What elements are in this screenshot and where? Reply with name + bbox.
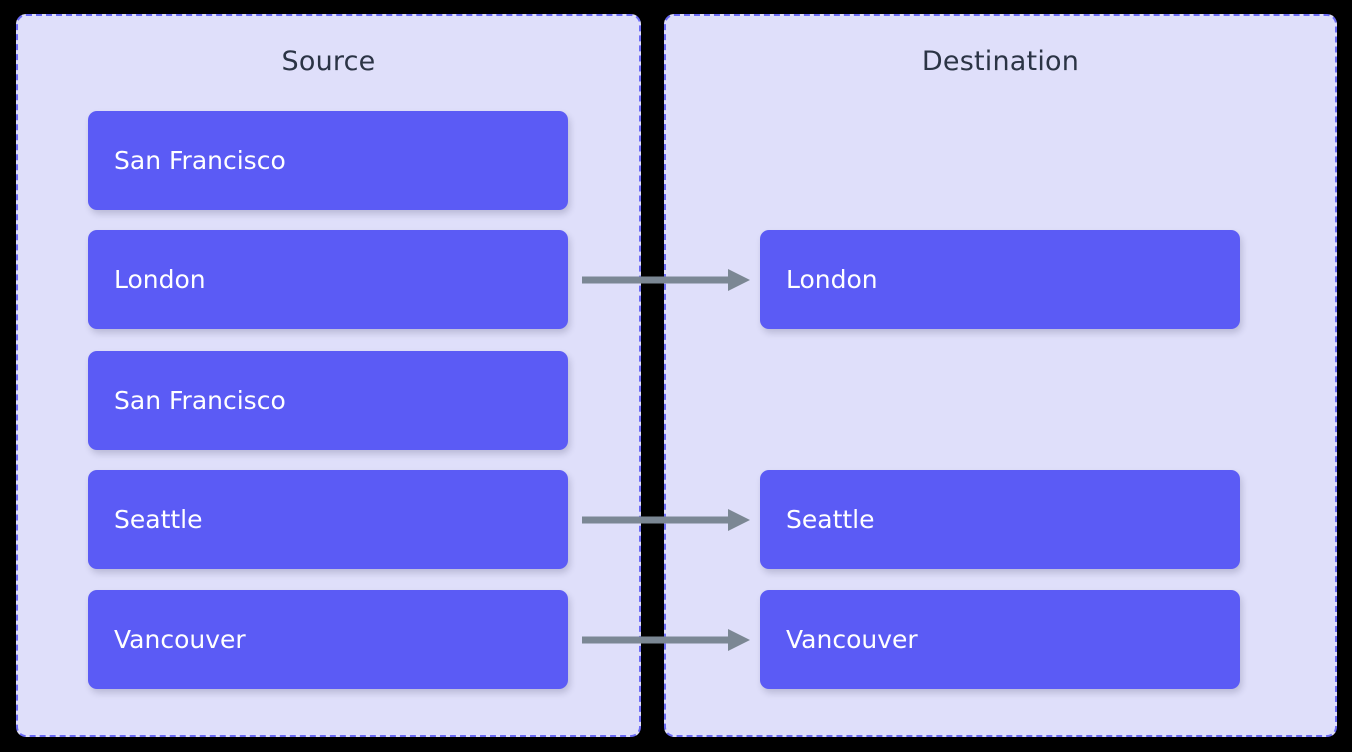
destination-panel-title: Destination: [666, 46, 1335, 78]
source-node[interactable]: Vancouver: [88, 590, 568, 689]
destination-node[interactable]: London: [760, 230, 1240, 329]
source-node[interactable]: Seattle: [88, 470, 568, 569]
source-node-label: Seattle: [88, 505, 203, 535]
source-node[interactable]: San Francisco: [88, 111, 568, 210]
diagram-canvas: Source Destination San Francisco London …: [0, 0, 1352, 752]
source-node[interactable]: London: [88, 230, 568, 329]
source-node[interactable]: San Francisco: [88, 351, 568, 450]
destination-node[interactable]: Seattle: [760, 470, 1240, 569]
source-node-label: Vancouver: [88, 625, 246, 655]
destination-node[interactable]: Vancouver: [760, 590, 1240, 689]
source-node-label: London: [88, 265, 206, 295]
destination-node-label: Seattle: [760, 505, 875, 535]
destination-node-label: London: [760, 265, 878, 295]
source-panel-title: Source: [18, 46, 639, 78]
source-node-label: San Francisco: [88, 386, 286, 416]
destination-node-label: Vancouver: [760, 625, 918, 655]
source-node-label: San Francisco: [88, 146, 286, 176]
